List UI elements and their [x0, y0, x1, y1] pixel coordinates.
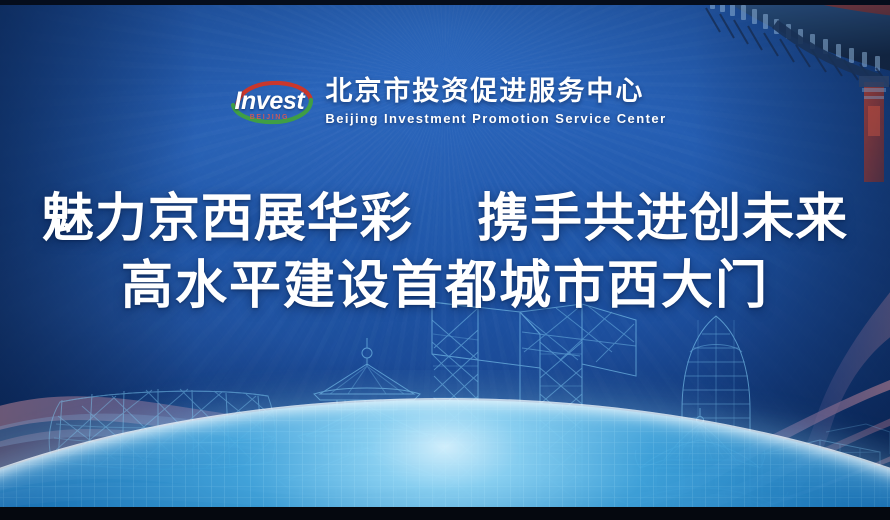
invest-logo[interactable]: Invest BEIJING	[223, 78, 315, 126]
invest-wordmark-sub: BEIJING	[223, 114, 315, 121]
org-titles: 北京市投资促进服务中心 Beijing Investment Promotion…	[325, 78, 666, 126]
org-name-en: Beijing Investment Promotion Service Cen…	[325, 111, 666, 126]
banner-canvas: Invest BEIJING 北京市投资促进服务中心 Beijing Inves…	[0, 0, 890, 520]
headline-line-1: 魅力京西展华彩 携手共进创未来	[0, 186, 890, 253]
brand-header: Invest BEIJING 北京市投资促进服务中心 Beijing Inves…	[0, 78, 890, 126]
headline-block: 魅力京西展华彩 携手共进创未来 高水平建设首都城市西大门	[0, 186, 890, 319]
invest-wordmark: Invest	[223, 87, 315, 116]
headline-line-1-part-1: 魅力京西展华彩	[42, 189, 413, 249]
headline-line-2: 高水平建设首都城市西大门	[0, 253, 890, 320]
org-name-cn: 北京市投资促进服务中心	[325, 78, 666, 107]
letterbox-top	[0, 0, 890, 5]
headline-line-1-part-2: 携手共进创未来	[477, 189, 848, 249]
earth-horizon-glow	[0, 370, 890, 520]
letterbox-bottom	[0, 507, 890, 520]
